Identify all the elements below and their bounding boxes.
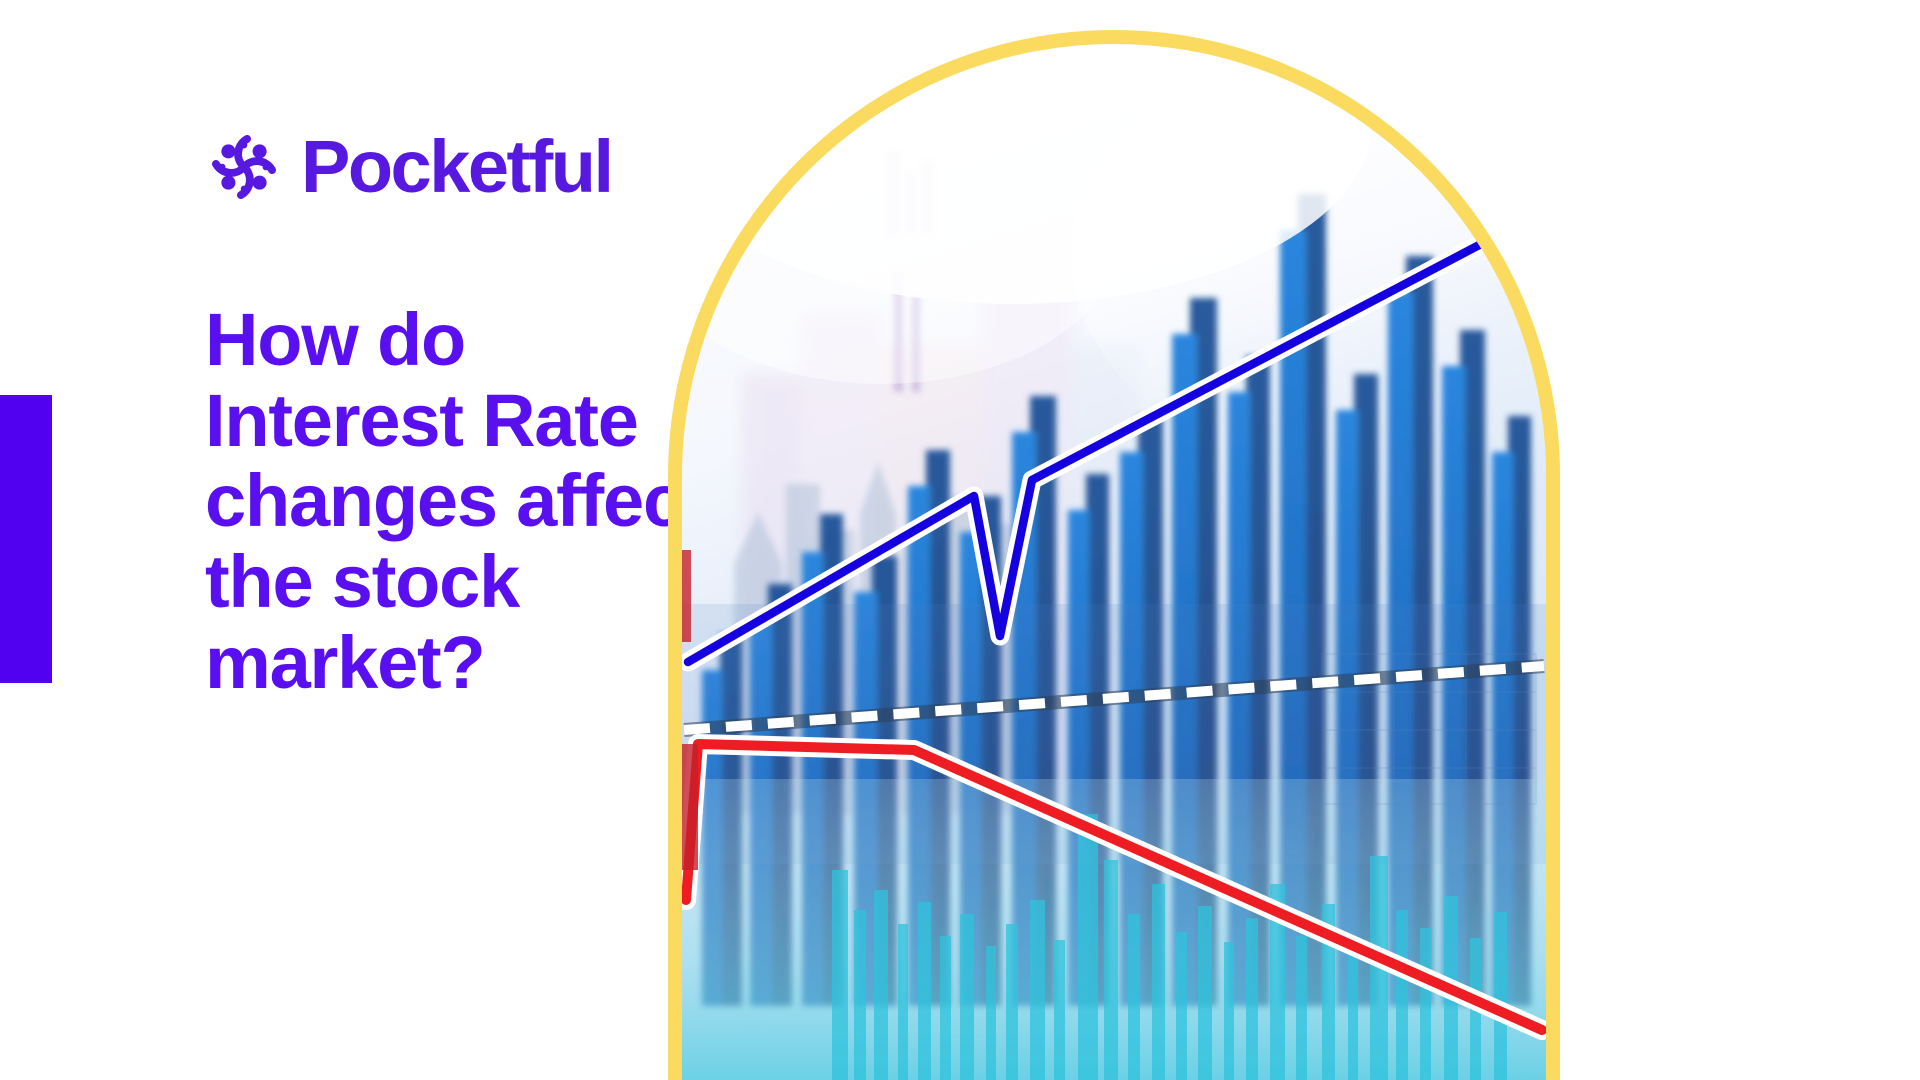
brand-wordmark: Pocketful [301,130,612,204]
market-chart-graphic [682,44,1546,1080]
hero-illustration [668,30,1560,1080]
hero-image-clip [682,44,1546,1080]
pocketful-pinwheel-icon [205,128,283,206]
brand-lockup[interactable]: Pocketful [205,128,612,206]
accent-bar [0,395,52,683]
poster-canvas: Pocketful How do Interest Rate changes a… [0,0,1920,1080]
